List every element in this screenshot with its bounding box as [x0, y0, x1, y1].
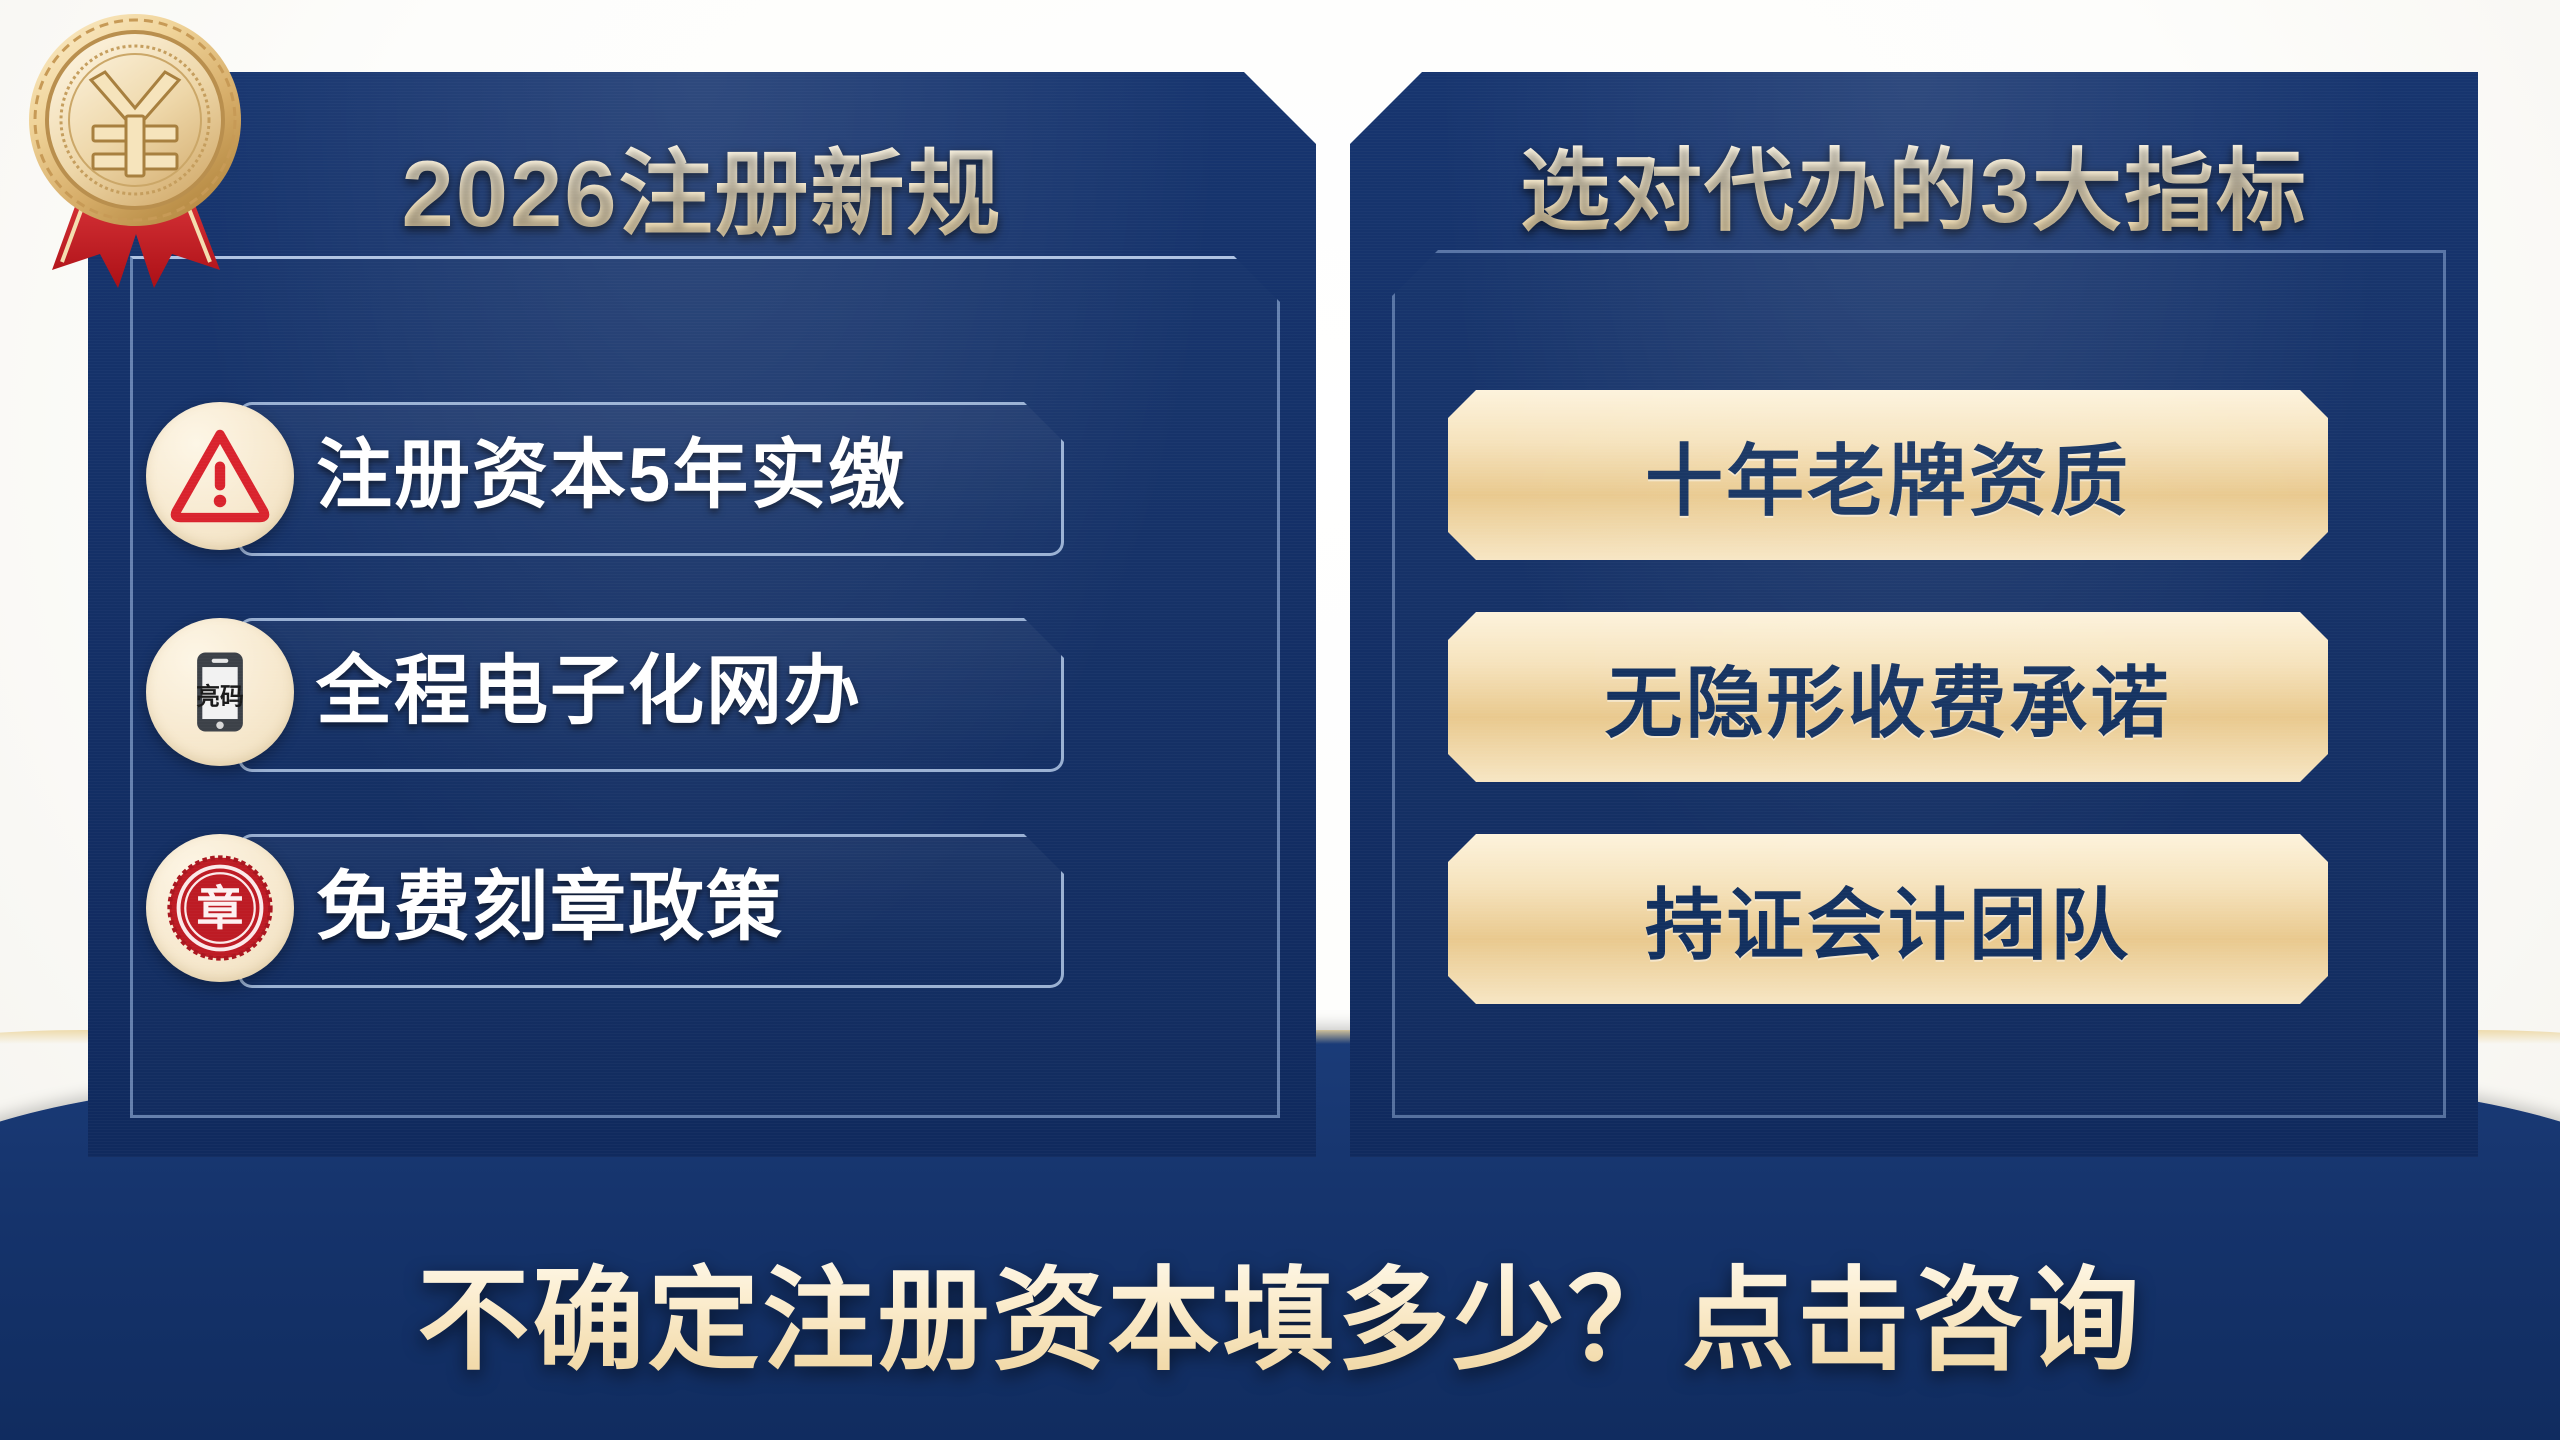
right-panel: 选对代办的3大指标 十年老牌资质 无隐形收费承诺 持证会计团队	[1350, 72, 2478, 1157]
gold-medal-ribbon-icon	[14, 8, 264, 288]
right-item-pill-2[interactable]: 无隐形收费承诺	[1448, 612, 2328, 782]
bottom-cta-text[interactable]: 不确定注册资本填多少？点击咨询	[0, 1230, 2560, 1392]
left-item-label-3: 免费刻章政策	[316, 834, 784, 982]
phone-screen-text: 亮码	[196, 682, 244, 710]
poster-canvas: 2026注册新规 注册资本5年实缴 亮码 全程电子化网办	[0, 0, 2560, 1440]
right-panel-title: 选对代办的3大指标	[1350, 118, 2478, 248]
red-seal-stamp-icon: 章	[146, 834, 294, 982]
right-item-pill-1[interactable]: 十年老牌资质	[1448, 390, 2328, 560]
left-item-label-2: 全程电子化网办	[316, 618, 862, 766]
warning-triangle-icon	[146, 402, 294, 550]
seal-glyph: 章	[196, 882, 243, 935]
left-panel-title: 2026注册新规	[88, 118, 1316, 254]
right-item-label-1: 十年老牌资质	[1645, 419, 2131, 531]
right-item-label-3: 持证会计团队	[1645, 863, 2131, 975]
mobile-phone-icon: 亮码	[146, 618, 294, 766]
right-item-pill-3[interactable]: 持证会计团队	[1448, 834, 2328, 1004]
left-item-label-1: 注册资本5年实缴	[316, 402, 906, 550]
left-panel: 2026注册新规 注册资本5年实缴 亮码 全程电子化网办	[88, 72, 1316, 1157]
right-item-label-2: 无隐形收费承诺	[1604, 641, 2171, 753]
